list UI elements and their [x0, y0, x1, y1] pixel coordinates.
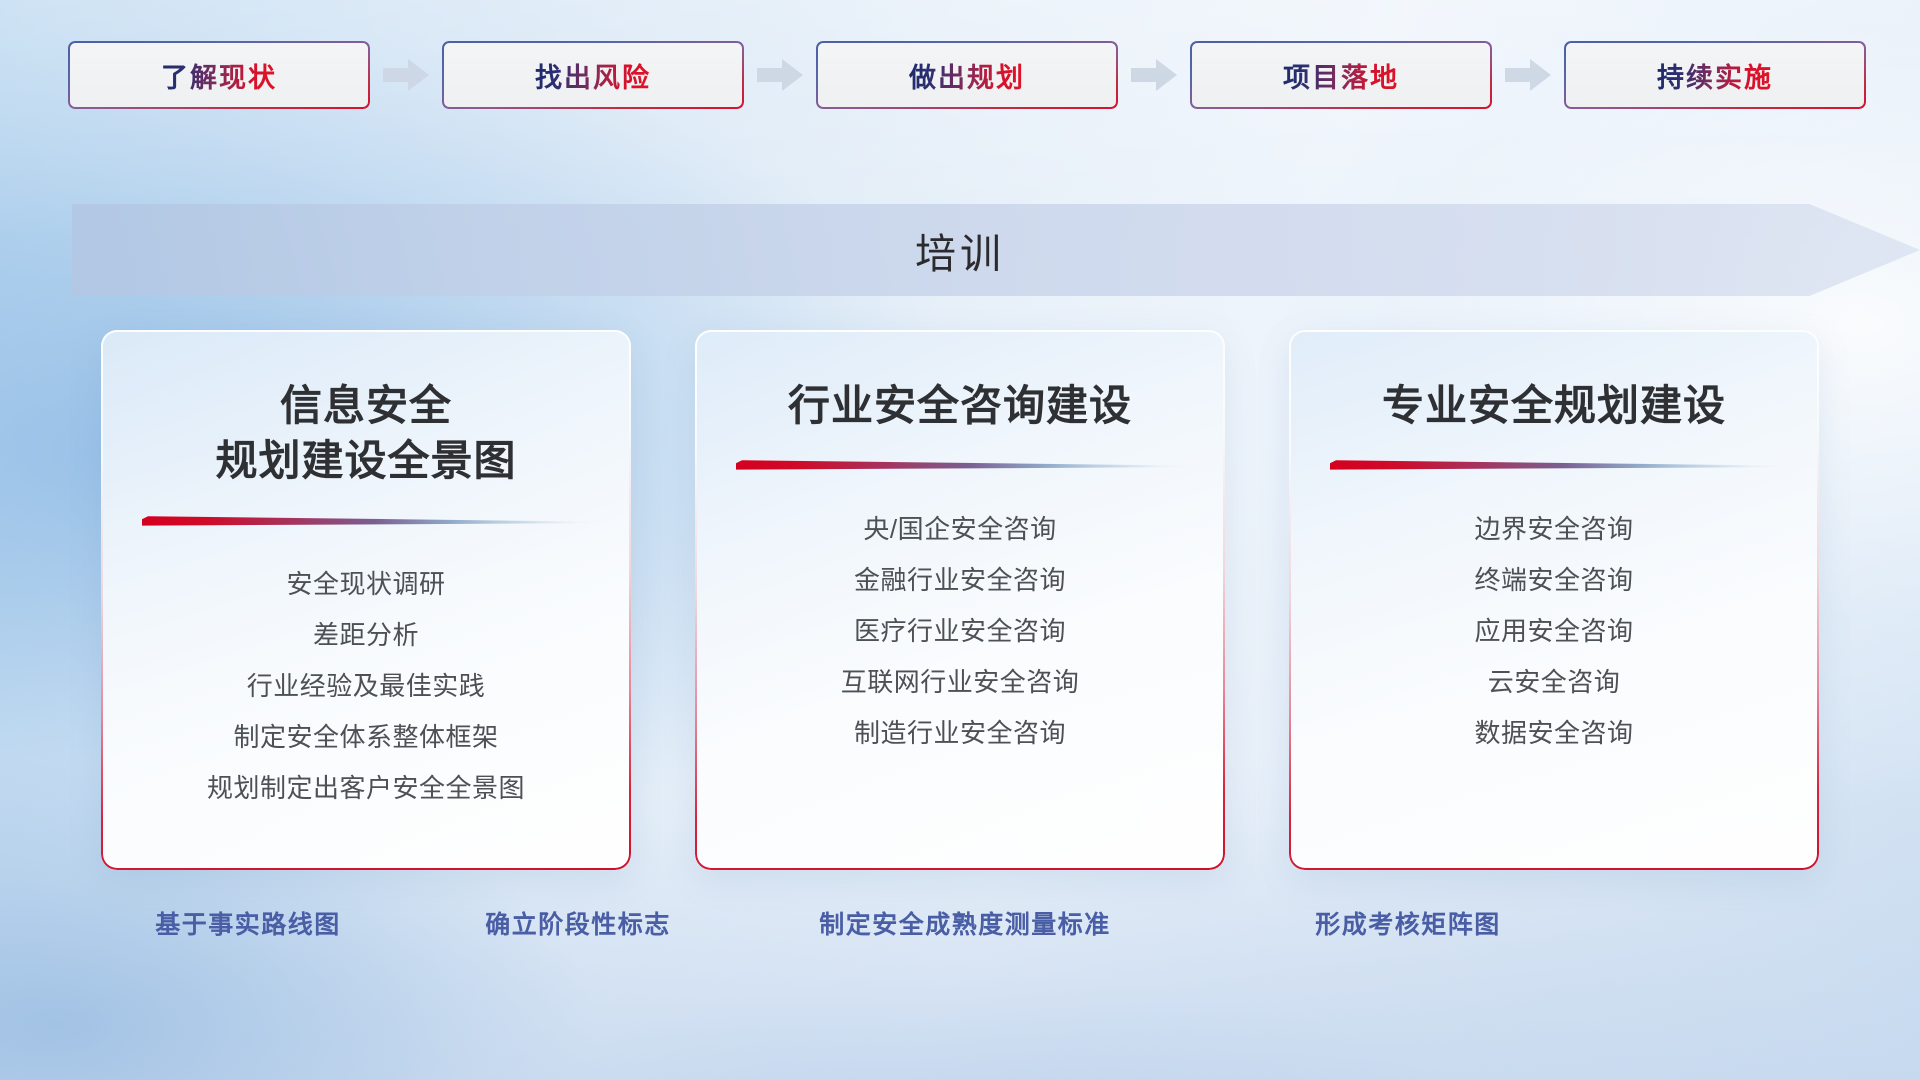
service-card-list-item[interactable]: 应用安全咨询: [1474, 605, 1633, 656]
process-step-2[interactable]: 找出风险: [442, 41, 744, 109]
service-card-title: 行业安全咨询建设: [788, 378, 1132, 433]
process-step-5[interactable]: 持续实施: [1564, 41, 1866, 109]
service-card-list-item[interactable]: 医疗行业安全咨询: [854, 605, 1066, 656]
service-card-list-item[interactable]: 央/国企安全咨询: [863, 503, 1056, 554]
service-card-2[interactable]: 行业安全咨询建设央/国企安全咨询金融行业安全咨询医疗行业安全咨询互联网行业安全咨…: [695, 330, 1225, 870]
process-steps: 了解现状找出风险做出规划项目落地持续实施: [0, 0, 1920, 150]
arrow-right-icon: [1131, 58, 1177, 92]
service-cards: 信息安全 规划建设全景图安全现状调研差距分析行业经验及最佳实践制定安全体系整体框…: [0, 330, 1920, 870]
footer-label-3: 制定安全成熟度测量标准: [819, 905, 1111, 941]
footer-label-4: 形成考核矩阵图: [1315, 905, 1501, 941]
service-card-list-item[interactable]: 制定安全体系整体框架: [233, 712, 498, 763]
service-card-list-item[interactable]: 边界安全咨询: [1474, 503, 1633, 554]
service-card-list-item[interactable]: 制造行业安全咨询: [854, 707, 1066, 758]
process-step-label: 项目落地: [1283, 56, 1399, 95]
service-card-list-item[interactable]: 云安全咨询: [1488, 656, 1621, 707]
service-card-list-item[interactable]: 安全现状调研: [286, 559, 445, 610]
process-step-label: 找出风险: [535, 56, 651, 95]
service-card-list-item[interactable]: 终端安全咨询: [1474, 554, 1633, 605]
service-card-title: 专业安全规划建设: [1382, 378, 1726, 433]
service-card-1[interactable]: 信息安全 规划建设全景图安全现状调研差距分析行业经验及最佳实践制定安全体系整体框…: [101, 330, 631, 870]
footer-label-1: 基于事实路线图: [155, 905, 341, 941]
service-card-list: 边界安全咨询终端安全咨询应用安全咨询云安全咨询数据安全咨询: [1289, 487, 1819, 758]
service-card-title: 信息安全 规划建设全景图: [215, 378, 516, 489]
process-step-label: 做出规划: [909, 56, 1025, 95]
service-card-list-item[interactable]: 规划制定出客户安全全景图: [207, 763, 525, 814]
footer-labels: 基于事实路线图确立阶段性标志制定安全成熟度测量标准形成考核矩阵图: [0, 905, 1920, 965]
service-card-list-item[interactable]: 行业经验及最佳实践: [247, 661, 486, 712]
arrow-right-icon: [383, 58, 429, 92]
footer-label-2: 确立阶段性标志: [485, 905, 671, 941]
process-step-label: 持续实施: [1657, 56, 1773, 95]
process-step-1[interactable]: 了解现状: [68, 41, 370, 109]
service-card-list: 安全现状调研差距分析行业经验及最佳实践制定安全体系整体框架规划制定出客户安全全景…: [101, 543, 631, 814]
arrow-right-icon: [757, 58, 803, 92]
service-card-list-item[interactable]: 差距分析: [313, 610, 419, 661]
service-card-list-item[interactable]: 金融行业安全咨询: [854, 554, 1066, 605]
service-card-divider: [1330, 459, 1778, 475]
process-step-3[interactable]: 做出规划: [816, 41, 1118, 109]
service-card-3[interactable]: 专业安全规划建设边界安全咨询终端安全咨询应用安全咨询云安全咨询数据安全咨询: [1289, 330, 1819, 870]
training-banner-label: 培训: [0, 204, 1920, 296]
process-step-4[interactable]: 项目落地: [1190, 41, 1492, 109]
service-card-divider: [736, 459, 1184, 475]
arrow-right-icon: [1505, 58, 1551, 92]
service-card-list-item[interactable]: 互联网行业安全咨询: [841, 656, 1080, 707]
service-card-list: 央/国企安全咨询金融行业安全咨询医疗行业安全咨询互联网行业安全咨询制造行业安全咨…: [695, 487, 1225, 758]
service-card-list-item[interactable]: 数据安全咨询: [1474, 707, 1633, 758]
process-step-label: 了解现状: [161, 56, 277, 95]
service-card-divider: [142, 515, 590, 531]
